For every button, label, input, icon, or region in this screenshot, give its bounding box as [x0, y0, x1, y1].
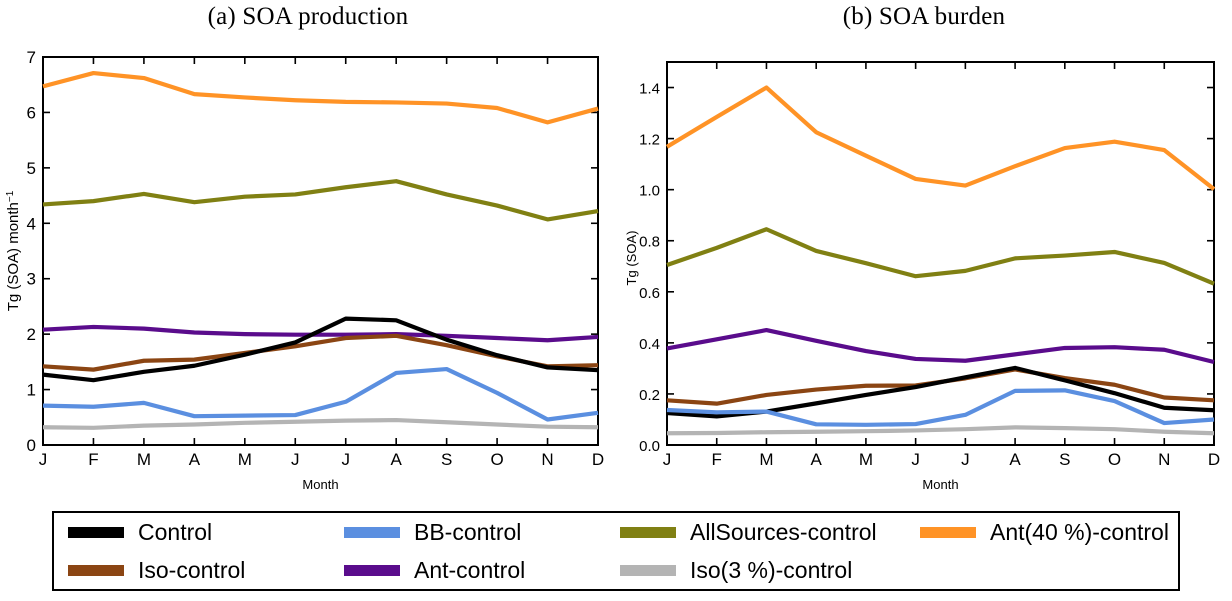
- legend-color-swatch: [68, 527, 124, 538]
- figure-container: (a) SOA production 01234567JFMAMJJASONDM…: [0, 0, 1232, 601]
- legend-label: Iso-control: [138, 557, 245, 584]
- legend-item-ant-control[interactable]: Ant-control: [344, 557, 620, 584]
- legend-item-ant-40-control[interactable]: Ant(40 %)-control: [920, 519, 1196, 546]
- x-tick-label: O: [490, 450, 503, 469]
- x-tick-label: J: [39, 450, 48, 469]
- panel-soa-production: (a) SOA production 01234567JFMAMJJASONDM…: [0, 0, 616, 495]
- x-axis-title: Month: [302, 477, 338, 492]
- legend: ControlBB-controlAllSources-controlAnt(4…: [52, 511, 1180, 591]
- legend-item-allsources-control[interactable]: AllSources-control: [620, 519, 920, 546]
- y-tick-label: 6: [27, 103, 36, 122]
- legend-item-iso-control[interactable]: Iso-control: [68, 557, 344, 584]
- legend-label: BB-control: [414, 519, 521, 546]
- series-line-bb-control: [667, 390, 1214, 424]
- x-tick-label: M: [137, 450, 151, 469]
- y-tick-label: 0.0: [639, 438, 660, 455]
- panel-soa-burden: (b) SOA burden 0.00.20.40.60.81.01.21.4J…: [616, 0, 1232, 495]
- y-tick-label: 1.2: [639, 132, 660, 149]
- legend-label: Iso(3 %)-control: [690, 557, 852, 584]
- y-axis-title: Tg (SOA): [624, 231, 639, 286]
- y-tick-label: 0.6: [639, 285, 660, 302]
- svg-text:Tg (SOA) month−1: Tg (SOA) month−1: [5, 190, 22, 311]
- legend-label: Ant(40 %)-control: [990, 519, 1169, 546]
- x-tick-label: D: [1208, 450, 1220, 469]
- x-tick-label: S: [441, 450, 452, 469]
- legend-item-control[interactable]: Control: [68, 519, 344, 546]
- x-tick-label: M: [859, 450, 873, 469]
- x-tick-label: A: [189, 450, 201, 469]
- y-tick-label: 1: [27, 381, 36, 400]
- y-tick-label: 7: [27, 48, 36, 67]
- x-tick-label: N: [1158, 450, 1170, 469]
- x-tick-label: M: [238, 450, 252, 469]
- y-tick-label: 2: [27, 325, 36, 344]
- x-tick-label: F: [712, 450, 722, 469]
- legend-color-swatch: [620, 565, 676, 576]
- legend-label: AllSources-control: [690, 519, 877, 546]
- x-tick-label: O: [1108, 450, 1121, 469]
- legend-color-swatch: [68, 565, 124, 576]
- plot-area-b: 0.00.20.40.60.81.01.21.4JFMAMJJASONDMont…: [616, 0, 1232, 495]
- x-tick-label: J: [911, 450, 920, 469]
- y-tick-label: 5: [27, 159, 36, 178]
- x-tick-label: A: [391, 450, 403, 469]
- legend-color-swatch: [620, 527, 676, 538]
- legend-item-bb-control[interactable]: BB-control: [344, 519, 620, 546]
- y-tick-label: 0.8: [639, 234, 660, 251]
- x-tick-label: J: [663, 450, 672, 469]
- plot-area-a: 01234567JFMAMJJASONDMonthTg (SOA) month−…: [0, 0, 616, 495]
- series-line-ant-40-control: [43, 73, 598, 122]
- legend-color-swatch: [344, 527, 400, 538]
- y-tick-label: 3: [27, 270, 36, 289]
- x-tick-label: J: [341, 450, 350, 469]
- legend-label: Ant-control: [414, 557, 525, 584]
- x-tick-label: M: [759, 450, 773, 469]
- x-tick-label: J: [961, 450, 970, 469]
- series-line-ant-control: [667, 330, 1214, 362]
- series-line-ant-40-control: [667, 88, 1214, 190]
- series-line-allsources-control: [43, 181, 598, 219]
- x-tick-label: D: [592, 450, 604, 469]
- series-line-iso-3-control: [667, 427, 1214, 433]
- svg-text:Tg (SOA): Tg (SOA): [624, 231, 639, 286]
- x-tick-label: F: [88, 450, 98, 469]
- x-tick-label: A: [811, 450, 823, 469]
- legend-label: Control: [138, 519, 212, 546]
- y-tick-label: 1.4: [639, 81, 660, 98]
- y-tick-label: 4: [27, 214, 36, 233]
- x-tick-label: N: [541, 450, 553, 469]
- legend-color-swatch: [344, 565, 400, 576]
- x-tick-label: A: [1009, 450, 1021, 469]
- legend-item-iso-3-control[interactable]: Iso(3 %)-control: [620, 557, 920, 584]
- y-tick-label: 0: [27, 436, 36, 455]
- y-tick-label: 0.4: [639, 336, 660, 353]
- legend-color-swatch: [920, 527, 976, 538]
- y-tick-label: 0.2: [639, 387, 660, 404]
- y-axis-title: Tg (SOA) month−1: [5, 190, 22, 311]
- series-line-allsources-control: [667, 229, 1214, 283]
- y-tick-label: 1.0: [639, 183, 660, 200]
- x-tick-label: J: [291, 450, 300, 469]
- x-axis-title: Month: [922, 477, 958, 492]
- x-tick-label: S: [1059, 450, 1070, 469]
- series-line-iso-3-control: [43, 420, 598, 428]
